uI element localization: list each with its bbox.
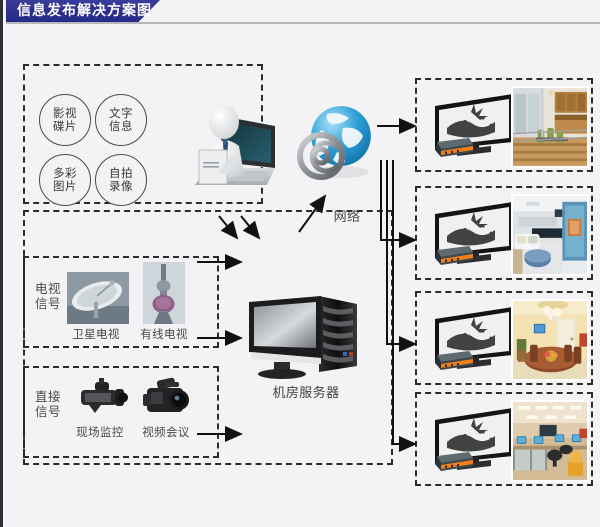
endpoint-panel-1 (415, 78, 593, 172)
endpoint-room-photo-3 (511, 299, 589, 381)
direct-signal-label: 直接 信号 (31, 389, 65, 419)
circle-label-line2: 录像 (109, 180, 133, 193)
media-player-box-icon (431, 349, 475, 373)
satellite-tv-caption: 卫星电视 (65, 326, 127, 342)
tv-signal-label-line2: 信号 (31, 296, 65, 311)
title-banner: 信息发布解决方案图 (3, 0, 600, 24)
banner-underline (6, 22, 600, 24)
tv-signal-label-line1: 电视 (31, 281, 65, 296)
media-player-box-icon (431, 136, 475, 160)
modern-living-room-photo (513, 196, 587, 274)
endpoint-room-photo-2 (511, 194, 589, 276)
live-surveillance-caption: 现场监控 (69, 424, 131, 440)
tv-signal-label: 电视 信号 (31, 281, 65, 311)
server-caption: 机房服务器 (251, 382, 361, 401)
kitchen-dining-room-photo (513, 88, 587, 166)
globe-at-icon (297, 100, 379, 186)
camcorder-icon (137, 372, 199, 420)
source-circle-text-info: 文字 信息 (95, 94, 147, 146)
source-circle-self-record: 自拍 录像 (95, 154, 147, 206)
circle-label-line2: 图片 (53, 180, 77, 193)
person-at-laptop-icon (171, 86, 283, 198)
endpoint-panel-2 (415, 186, 593, 280)
cable-tv-caption: 有线电视 (133, 326, 195, 342)
endpoint-panel-4 (415, 392, 593, 486)
security-camera-icon (75, 376, 133, 420)
circle-label-line2: 碟片 (53, 120, 77, 133)
wire-network-to-endpoint-4 (393, 232, 415, 444)
direct-signal-label-line1: 直接 (31, 389, 65, 404)
media-player-box-icon (431, 450, 475, 474)
endpoint-room-photo-4 (511, 400, 589, 482)
media-player-box-icon (431, 244, 475, 268)
endpoint-room-photo-1 (511, 86, 589, 168)
circle-label-line2: 信息 (109, 120, 133, 133)
tv-tower-icon (143, 262, 185, 324)
diagram-page: 信息发布解决方案图 影视 碟片 文字 信息 多彩 图片 自拍 录像 (0, 0, 600, 527)
endpoint-panel-3 (415, 291, 593, 385)
source-circle-color-image: 多彩 图片 (39, 154, 91, 206)
video-conference-caption: 视频会议 (135, 424, 197, 440)
page-title: 信息发布解决方案图 (17, 2, 152, 20)
satellite-dish-icon (67, 272, 129, 324)
network-caption: 网络 (325, 206, 369, 225)
warm-dining-room-photo (513, 301, 587, 379)
office-computer-room-photo (513, 402, 587, 480)
direct-signal-label-line2: 信号 (31, 404, 65, 419)
source-circle-video-disc: 影视 碟片 (39, 94, 91, 146)
desktop-server-icon (241, 286, 365, 382)
